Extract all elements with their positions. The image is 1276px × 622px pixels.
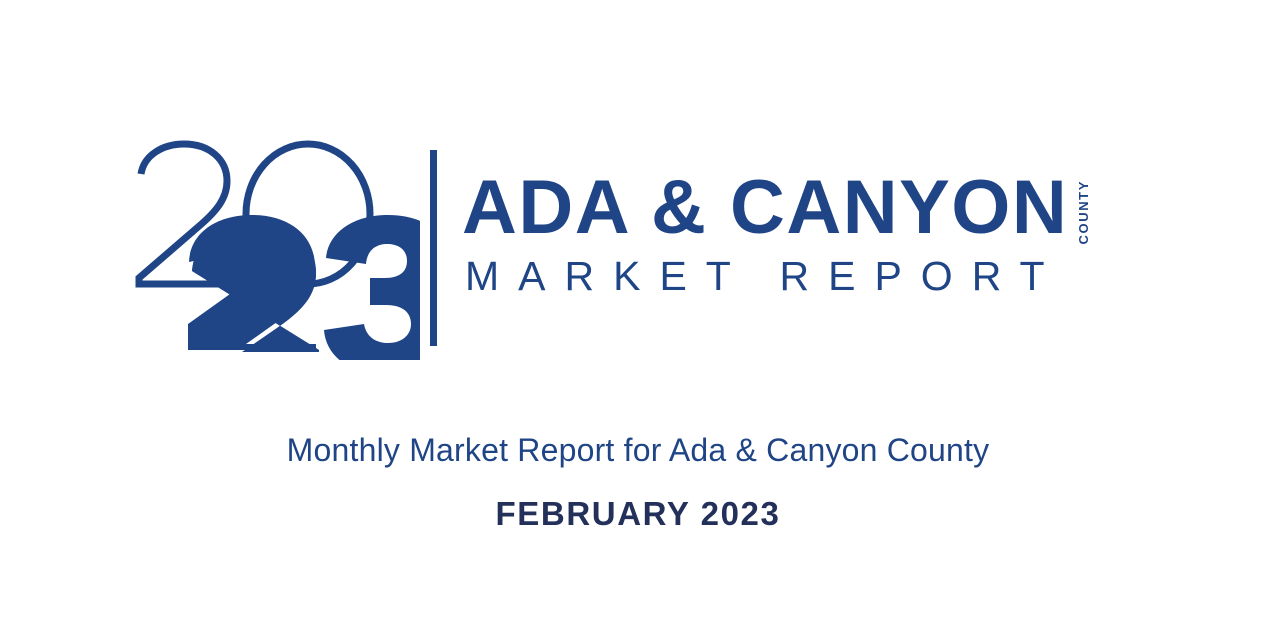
cover-subtitle: Monthly Market Report for Ada & Canyon C… <box>0 428 1276 472</box>
logo-subtitle-text: MARKET REPORT <box>465 256 1064 297</box>
cover-date: FEBRUARY 2023 <box>0 494 1276 534</box>
cover-caption-block: Monthly Market Report for Ada & Canyon C… <box>0 428 1276 534</box>
logo-year-2023-mark <box>130 138 420 360</box>
report-cover-page: ADA & CANYON COUNTY MARKET REPORT Monthl… <box>0 0 1276 622</box>
brand-logo-lockup: ADA & CANYON COUNTY MARKET REPORT <box>0 0 1276 400</box>
logo-title-text: ADA & CANYON <box>462 170 1068 246</box>
logo-wordmark: ADA & CANYON COUNTY MARKET REPORT <box>462 160 1142 320</box>
logo-title-row: ADA & CANYON COUNTY <box>462 160 1142 246</box>
logo-divider-rule <box>430 150 437 346</box>
logo-county-tag: COUNTY <box>1077 180 1090 245</box>
